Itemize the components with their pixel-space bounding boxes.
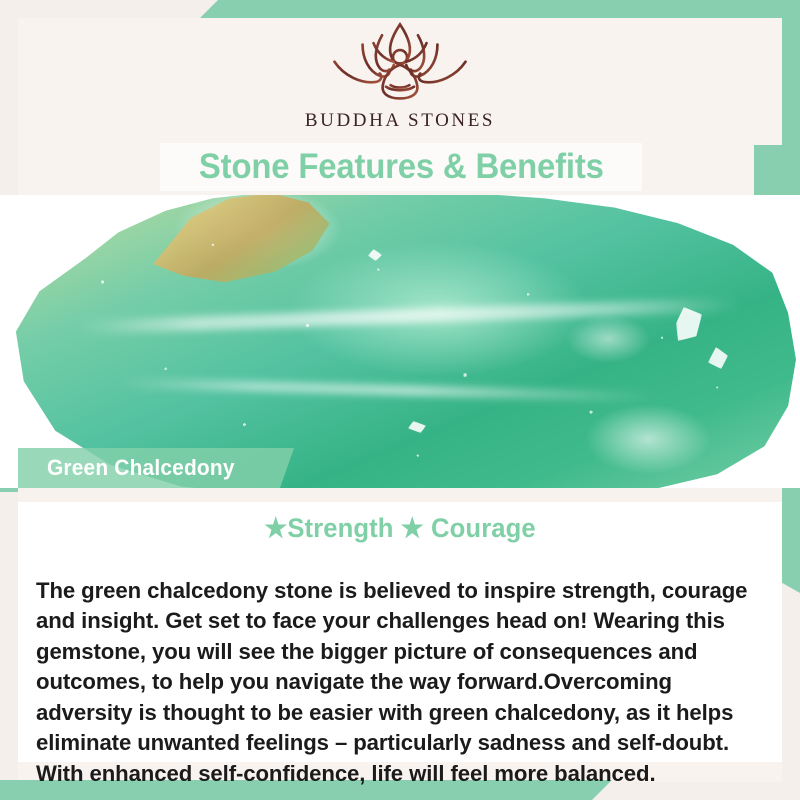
body-paragraph: The green chalcedony stone is believed t… (36, 576, 763, 790)
stone-info-card: BUDDHA STONES Stone Features & Benefits … (0, 0, 800, 800)
stone-name-text: Green Chalcedony (47, 455, 235, 481)
green-chalcedony-stone-image (8, 195, 796, 488)
stone-photo (0, 195, 800, 488)
keyword-headings: ★Strength ★ Courage (37, 513, 763, 544)
stone-speckle-texture (8, 195, 796, 488)
title-banner: Stone Features & Benefits (160, 143, 642, 191)
page-title: Stone Features & Benefits (199, 147, 604, 187)
content-top-strip (18, 488, 782, 502)
content-area: ★Strength ★ Courage The green chalcedony… (18, 488, 782, 762)
stone-name-label: Green Chalcedony (18, 448, 294, 488)
decor-top-bar (200, 0, 800, 18)
